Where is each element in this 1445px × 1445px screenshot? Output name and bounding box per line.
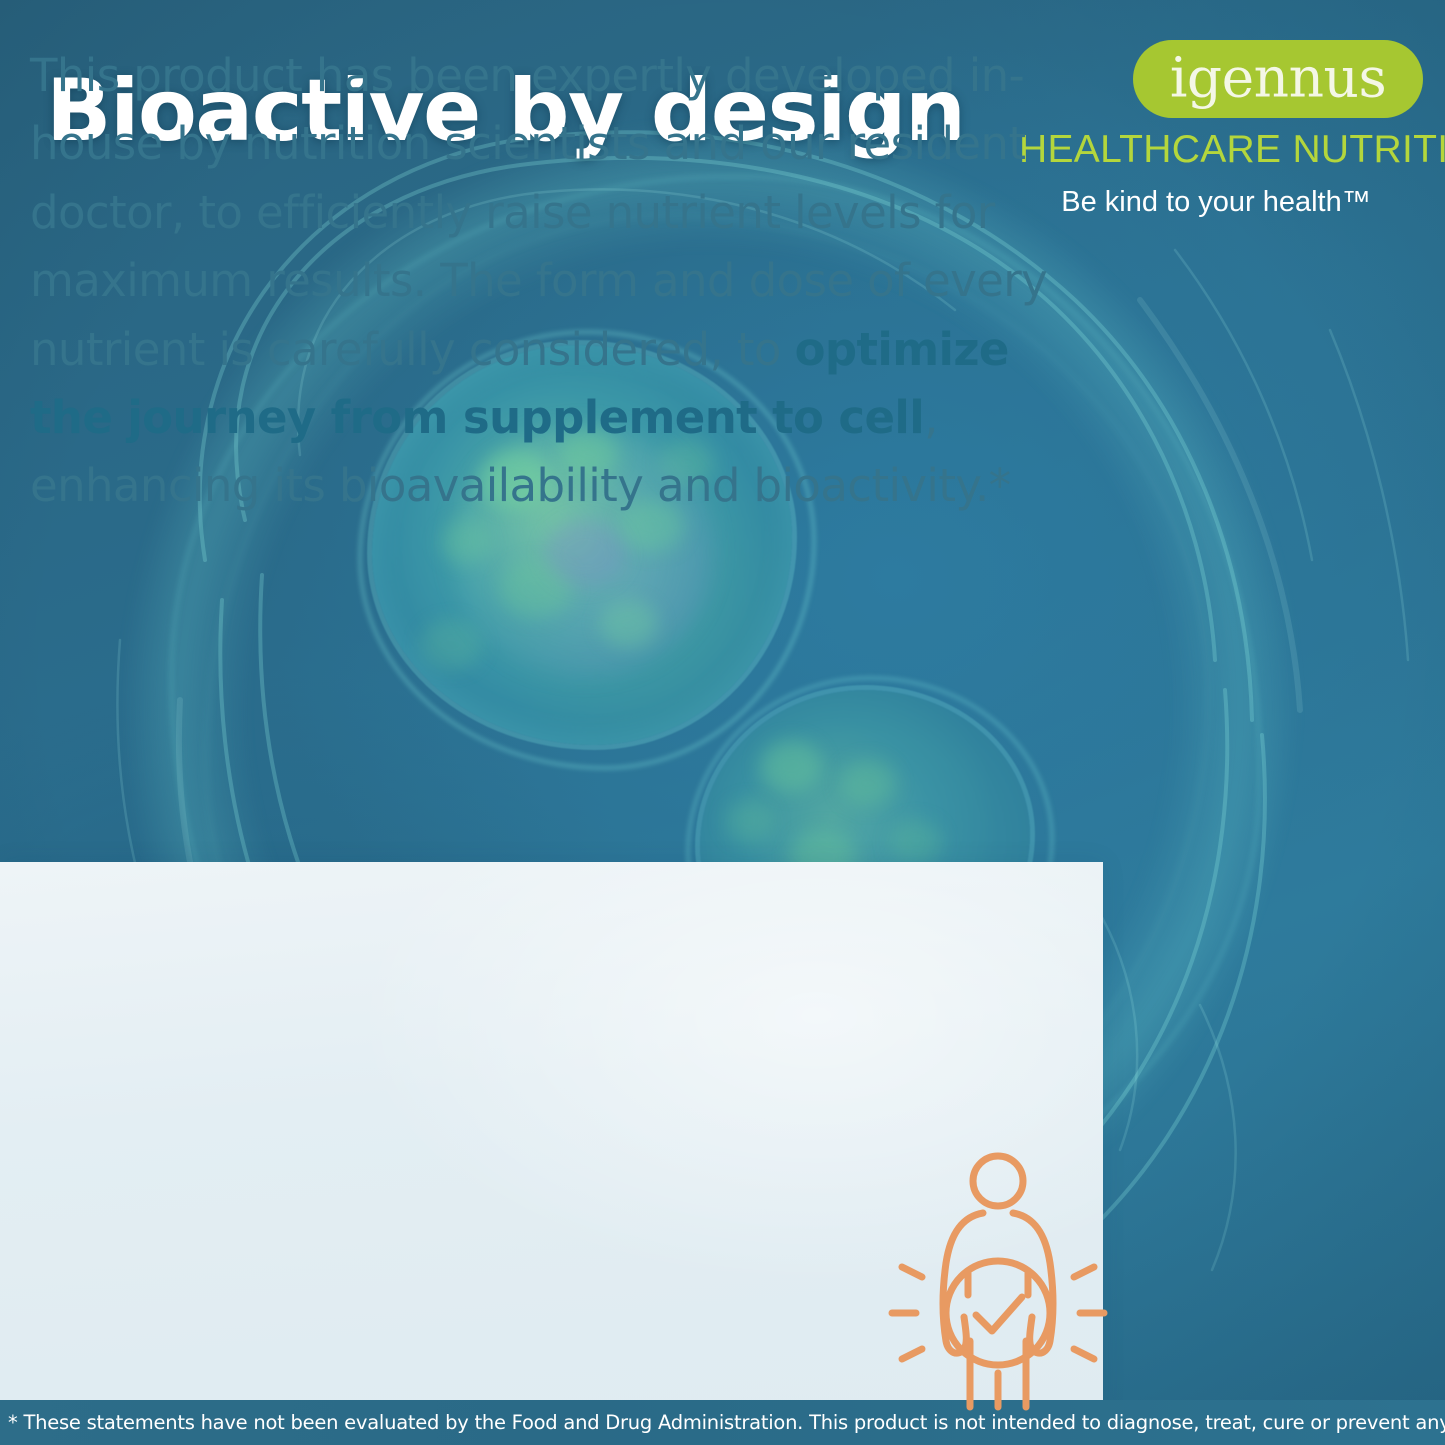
disclaimer-bar: * These statements have not been evaluat… bbox=[0, 1400, 1445, 1445]
logo-pill-shape: igennus bbox=[1133, 40, 1423, 118]
brand-tagline-primary: HEALTHCARE NUTRITION bbox=[1019, 128, 1423, 172]
brand-logo: igennus HEALTHCARE NUTRITION Be kind to … bbox=[1019, 40, 1423, 219]
brand-wordmark: igennus bbox=[1133, 50, 1423, 105]
brand-tagline-secondary: Be kind to your health™ bbox=[1019, 186, 1423, 219]
person-belly-check-icon bbox=[888, 1145, 1108, 1415]
disclaimer-text: * These statements have not been evaluat… bbox=[0, 1411, 1445, 1434]
product-infographic-canvas: Bioactive by design igennus HEALTHCARE N… bbox=[0, 0, 1445, 1445]
body-copy: This product has been expertly developed… bbox=[30, 42, 1075, 521]
